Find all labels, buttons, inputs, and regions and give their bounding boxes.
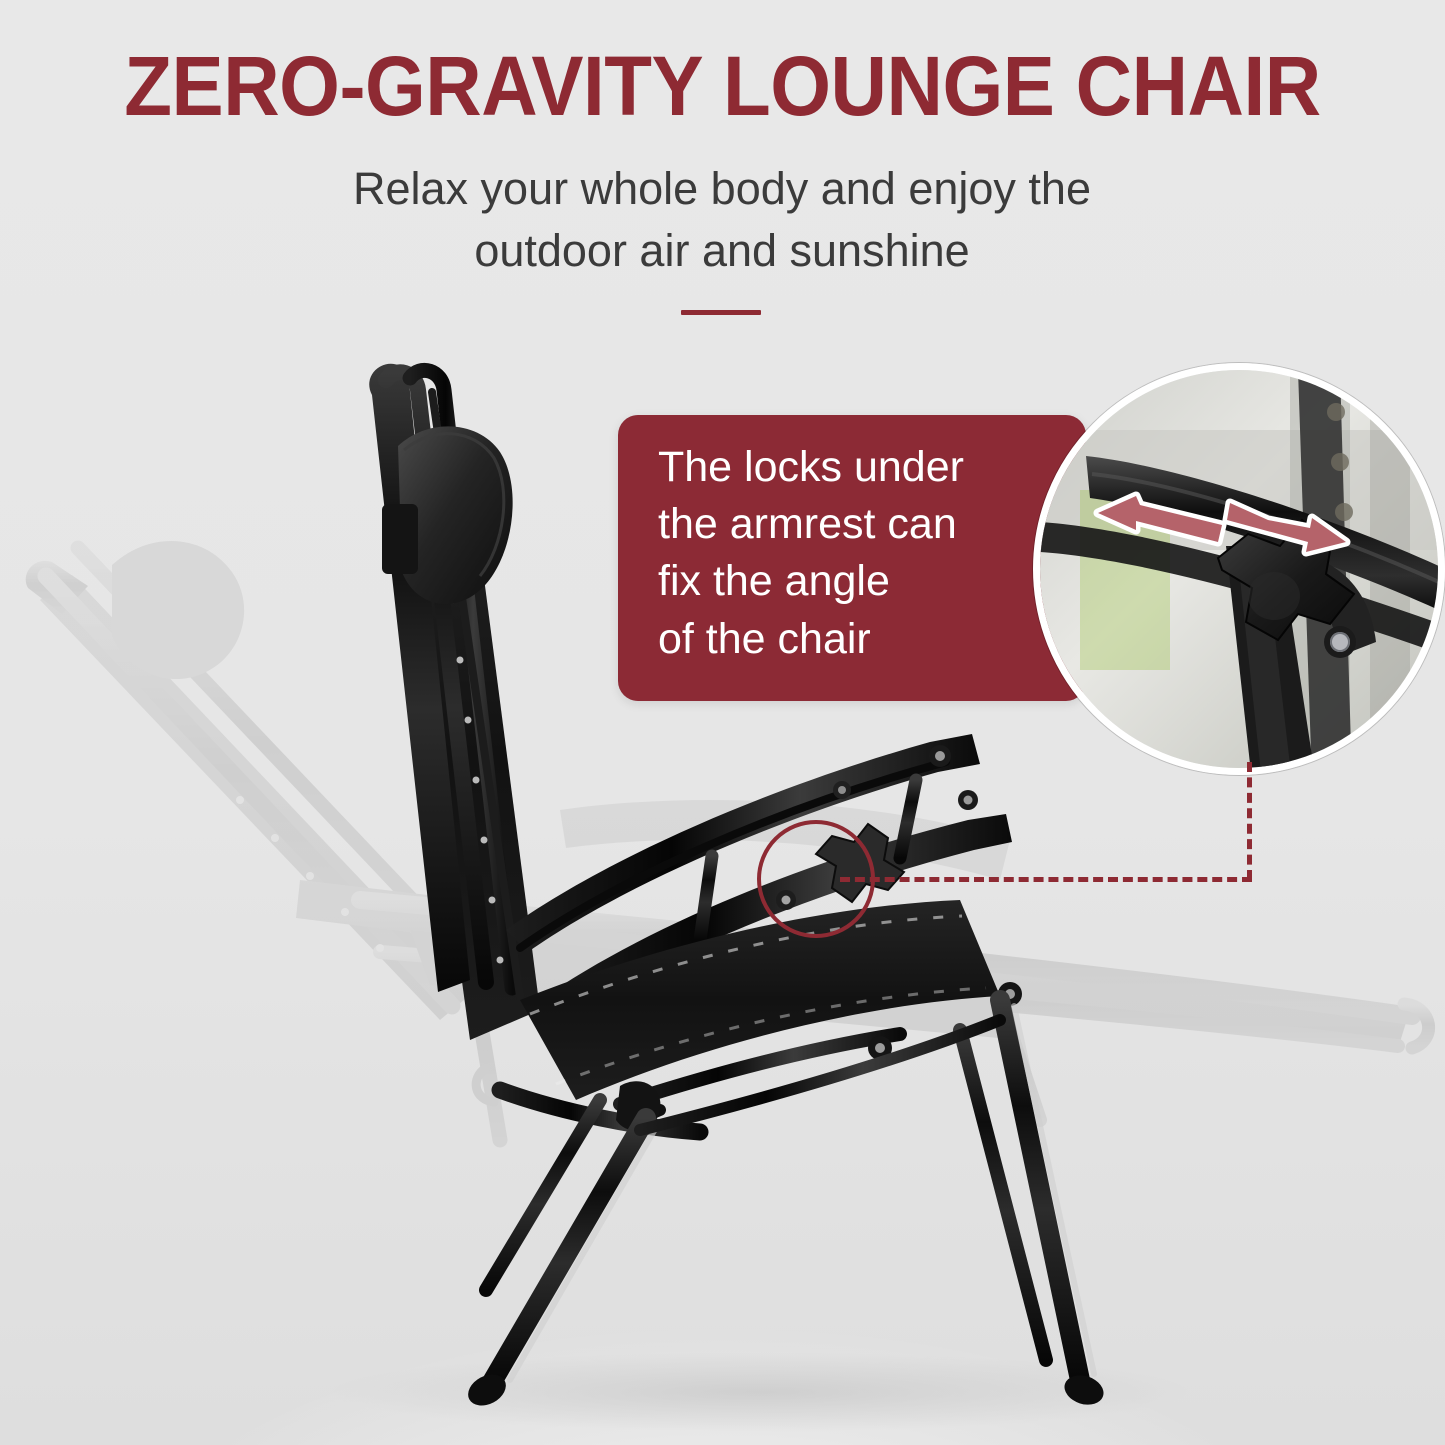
page-title: ZERO-GRAVITY LOUNGE CHAIR [51,44,1395,128]
inset-photo [1040,370,1445,775]
connector-line-horizontal [840,877,1252,882]
feature-callout-box: The locks under the armrest can fix the … [618,415,1086,701]
page-subtitle: Relax your whole body and enjoy the outd… [222,158,1222,282]
product-infographic: ZERO-GRAVITY LOUNGE CHAIR Relax your who… [0,0,1445,1445]
feature-callout-text: The locks under the armrest can fix the … [658,439,1058,668]
connector-line-vertical [1247,762,1252,880]
lock-closeup-inset [1033,363,1445,775]
inset-circle-frame [1033,363,1445,775]
header-divider [681,310,761,315]
